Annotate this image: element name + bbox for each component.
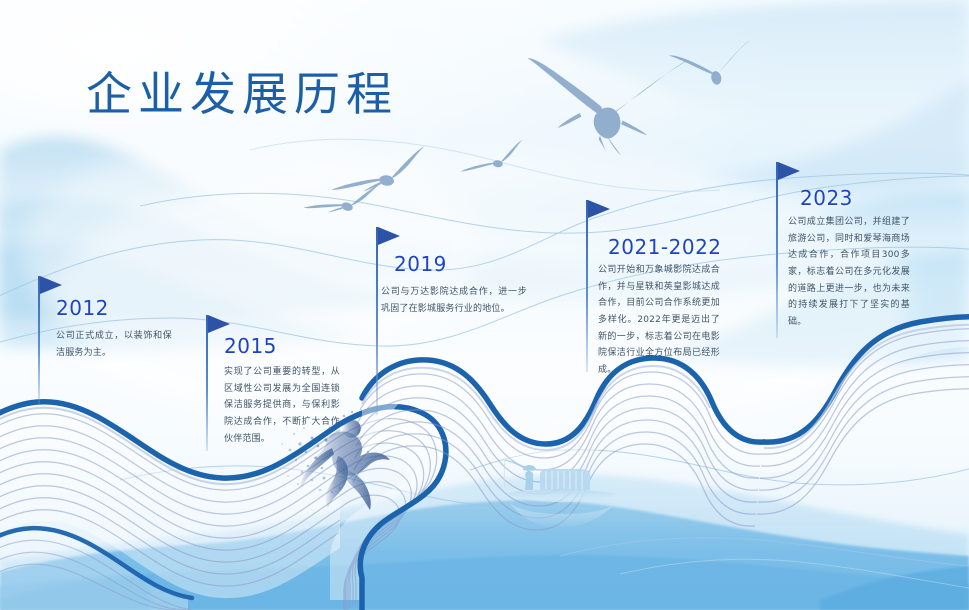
- milestone-year-2023: 2023: [800, 186, 853, 210]
- milestone-year-2015: 2015: [224, 334, 277, 358]
- milestone-text-2019: 公司与万达影院达成合作，进一步巩固了在影城服务行业的地位。: [381, 284, 527, 317]
- milestone-year-2021-2022: 2021-2022: [608, 235, 722, 259]
- poster-canvas: 企业发展历程 2012 公司正式成立，以装饰和保洁服务为主。 2015 实现了公…: [0, 0, 969, 610]
- page-title: 企业发展历程: [86, 58, 398, 124]
- boat-figure: [504, 460, 616, 528]
- milestone-text-2023: 公司成立集团公司，并组建了旅游公司，同时和爱琴海商场达成合作，合作项目300多家…: [788, 214, 910, 330]
- milestone-text-2012: 公司正式成立，以装饰和保洁服务为主。: [56, 328, 172, 361]
- milestone-text-2021-2022: 公司开始和万象城影院达成合作，并与星轶和英皇影城达成合作，目前公司合作系统更加多…: [598, 262, 720, 378]
- milestone-year-2019: 2019: [394, 252, 447, 276]
- milestone-text-2015: 实现了公司重要的转型，从区域性公司发展为全国连锁保洁服务提供商，与保利影院达成合…: [224, 364, 340, 447]
- milestone-year-2012: 2012: [56, 296, 109, 320]
